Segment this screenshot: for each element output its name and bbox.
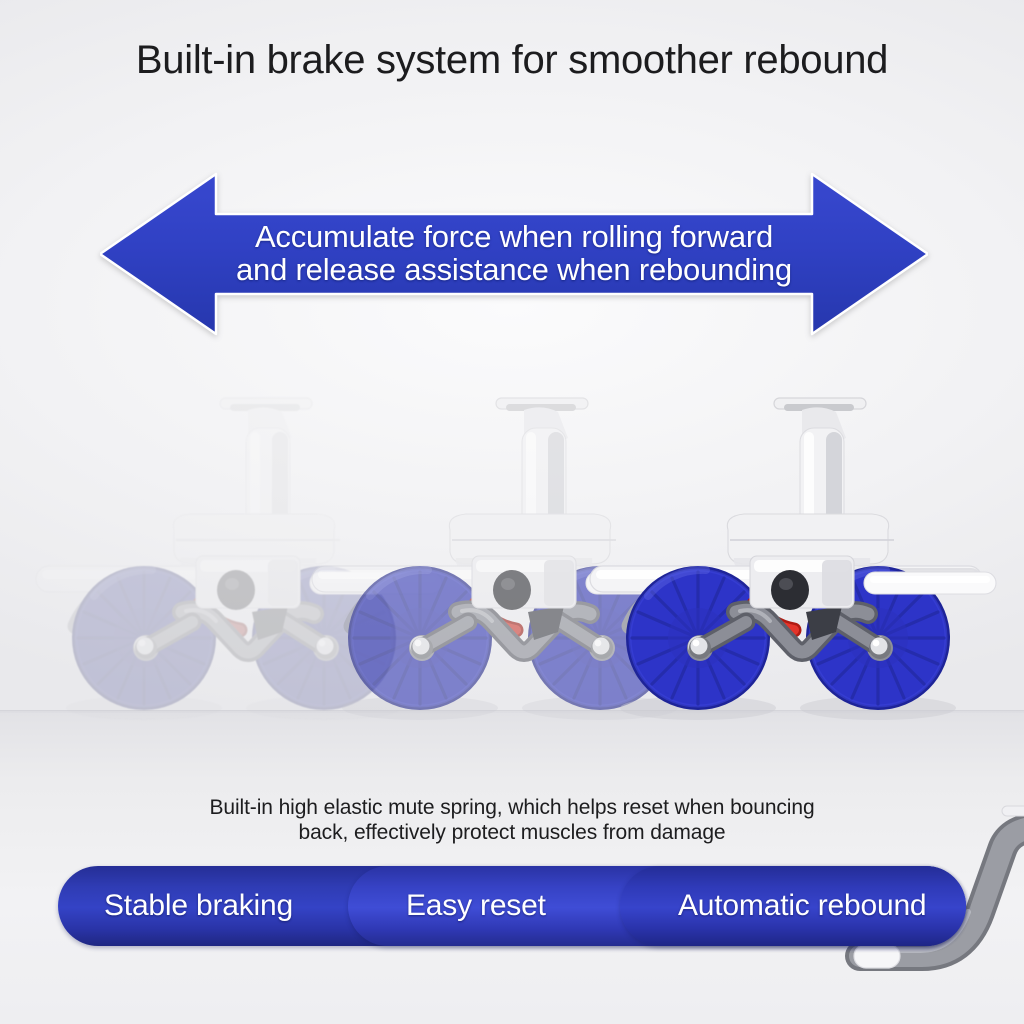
feature-pill-label: Automatic rebound [678,889,926,923]
product-motion-sequence [0,390,1024,730]
ab-roller-solid [578,390,1024,730]
caption-line-2: back, effectively protect muscles from d… [112,821,912,846]
caption-line-1: Built-in high elastic mute spring, which… [209,796,814,819]
page-title: Built-in brake system for smoother rebou… [0,38,1024,83]
feature-pill-group: Stable braking Easy reset Automatic rebo… [58,866,966,946]
product-caption: Built-in high elastic mute spring, which… [112,796,912,846]
arrow-banner-line-2: and release assistance when rebounding [220,254,808,287]
arrow-banner-text: Accumulate force when rolling forward an… [100,221,928,287]
arrow-banner-line-1: Accumulate force when rolling forward [255,219,773,254]
product-feature-banner: Built-in brake system for smoother rebou… [0,0,1024,1024]
feature-pill-label: Easy reset [406,889,546,923]
feature-pill-automatic-rebound[interactable]: Automatic rebound [620,866,966,946]
feature-pill-label: Stable braking [104,889,293,923]
ab-roller-illustration [578,390,1024,730]
arrow-banner: Accumulate force when rolling forward an… [100,168,928,340]
